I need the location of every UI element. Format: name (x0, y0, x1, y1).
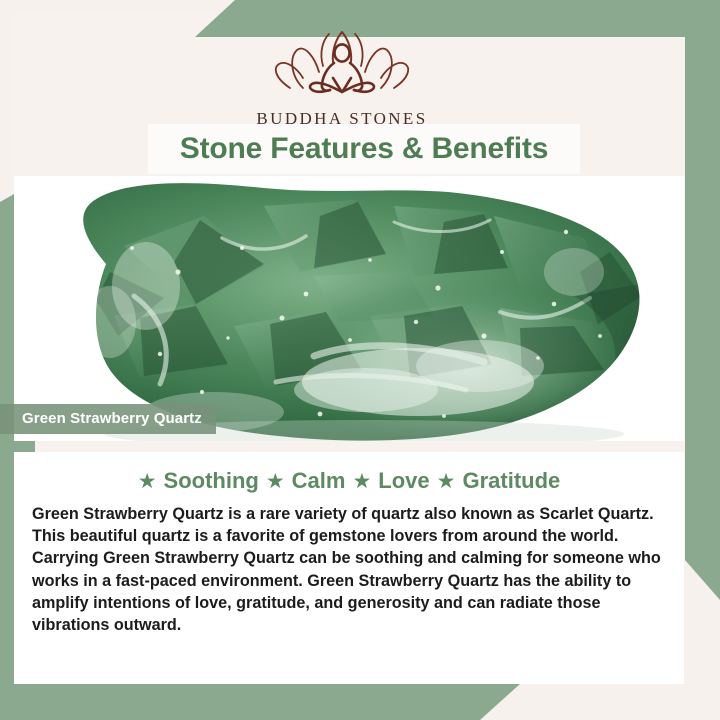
keyword-label: Calm (292, 468, 346, 494)
decor-band-bottom (0, 684, 520, 720)
keyword-label: Gratitude (462, 468, 560, 494)
lotus-meditation-icon (267, 26, 417, 102)
star-icon: ★ (138, 471, 157, 492)
keyword-item: ★ Gratitude (437, 468, 561, 494)
keyword-item: ★ Calm (266, 468, 346, 494)
decor-band-right (685, 0, 720, 600)
title-banner: Stone Features & Benefits (148, 124, 580, 174)
stone-features-poster: BUDDHA STONES Stone Features & Benefits (0, 0, 720, 720)
keyword-list: ★ Soothing ★ Calm ★ Love ★ Gratitude (14, 452, 684, 494)
hero-caption: Green Strawberry Quartz (0, 404, 216, 434)
quartz-stone-illustration (14, 176, 684, 441)
star-icon: ★ (437, 471, 456, 492)
keyword-item: ★ Love (352, 468, 429, 494)
description-text: Green Strawberry Quartz is a rare variet… (32, 503, 666, 636)
star-icon: ★ (352, 471, 371, 492)
page-title: Stone Features & Benefits (180, 132, 548, 166)
keyword-label: Soothing (164, 468, 259, 494)
keyword-item: ★ Soothing (138, 468, 259, 494)
benefits-content: ★ Soothing ★ Calm ★ Love ★ Gratitude Gre… (14, 452, 684, 684)
brand-logo: BUDDHA STONES (0, 26, 684, 129)
keyword-label: Love (378, 468, 429, 494)
hero-image (14, 176, 684, 441)
star-icon: ★ (266, 471, 285, 492)
